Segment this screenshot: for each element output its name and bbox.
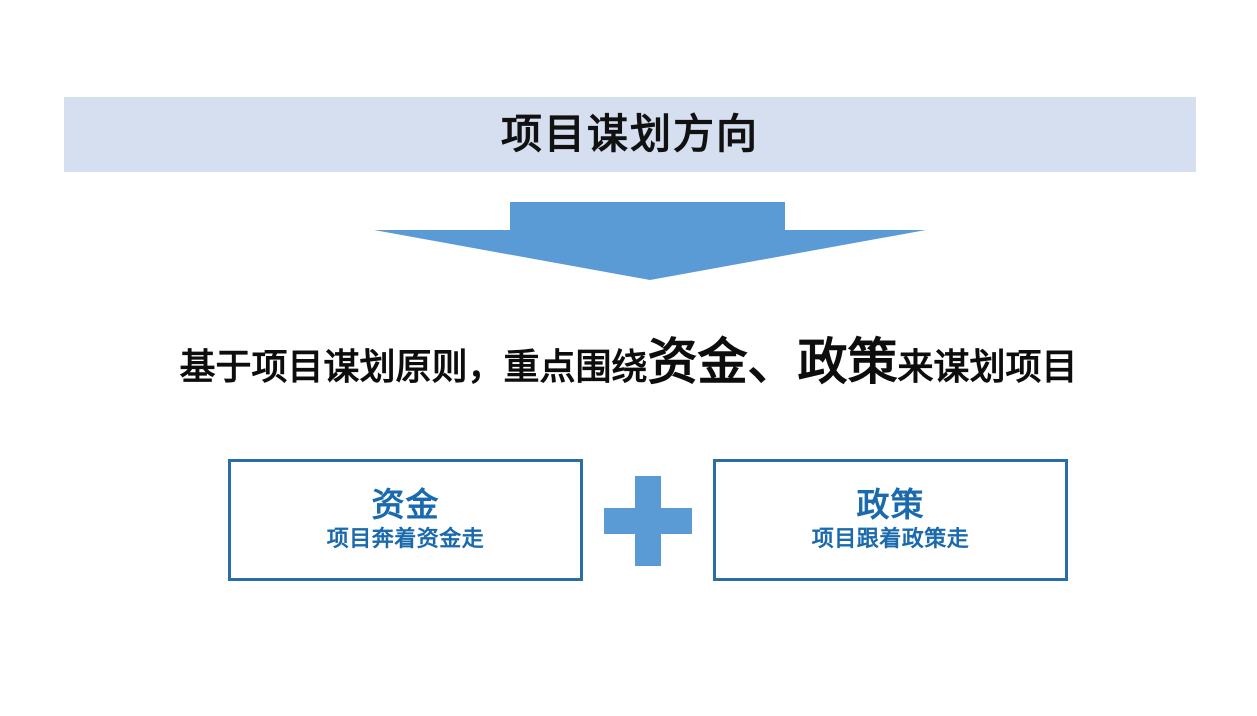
card-policy-title: 政策 [857,487,925,524]
card-funding[interactable]: 资金 项目奔着资金走 [228,459,583,581]
plus-shape [604,476,692,566]
statement-emphasis: 资金、政策 [648,334,898,390]
title-banner: 项目谋划方向 [64,97,1196,172]
card-policy[interactable]: 政策 项目跟着政策走 [713,459,1068,581]
card-policy-subtitle: 项目跟着政策走 [812,526,970,552]
down-arrow-shape [374,202,926,280]
down-arrow-icon [374,202,926,280]
slide-canvas: 项目谋划方向 基于项目谋划原则，重点围绕资金、政策来谋划项目 资金 项目奔着资金… [0,0,1257,716]
card-funding-subtitle: 项目奔着资金走 [327,526,485,552]
card-funding-title: 资金 [372,487,440,524]
statement-part-2: 来谋划项目 [898,346,1078,387]
page-title: 项目谋划方向 [501,114,759,155]
plus-icon [604,476,692,566]
main-statement: 基于项目谋划原则，重点围绕资金、政策来谋划项目 [0,322,1257,394]
statement-part-1: 基于项目谋划原则，重点围绕 [179,346,647,387]
